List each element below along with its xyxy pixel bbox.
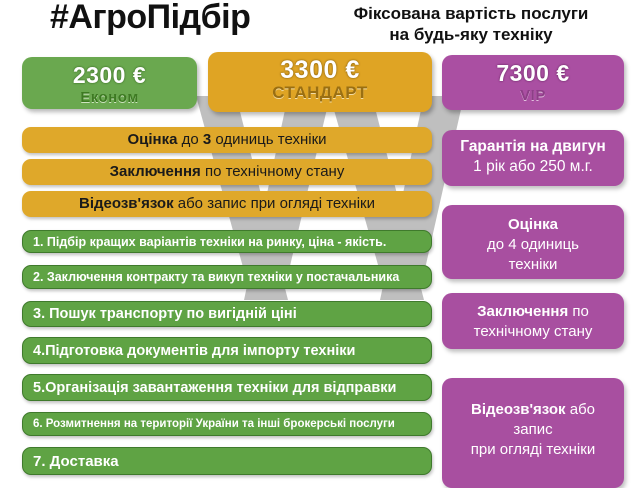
tagline: Фіксована вартість послуги на будь-яку т… xyxy=(306,3,636,45)
price-amount-econom: 2300 € xyxy=(22,63,197,88)
feature-bar-1-strong: Заключення xyxy=(110,163,201,180)
price-amount-vip: 7300 € xyxy=(442,61,624,86)
step-row: 3. Пошук транспорту по вигідній ціні xyxy=(22,301,432,327)
tagline-line-2: на будь-яку техніку xyxy=(306,24,636,45)
feature-bar-0-strong: Оцінка xyxy=(127,131,177,148)
page-header: #АгроПідбір Фіксована вартість послуги н… xyxy=(0,0,640,52)
brand-title: #АгроПідбір xyxy=(50,0,250,37)
step-row: 6. Розмитнення на території України та і… xyxy=(22,412,432,436)
feature-bar-0-strong2: 3 xyxy=(203,131,211,148)
price-card-econom[interactable]: 2300 € Економ xyxy=(22,57,197,109)
benefit-card-video-call: Відеозв'язок або запис при огляді технік… xyxy=(442,378,624,488)
benefit-3-line-3: при огляді техніки xyxy=(442,440,624,460)
price-amount-standard: 3300 € xyxy=(208,58,432,83)
feature-bar-conclusion: Заключення по технічному стану xyxy=(22,159,432,185)
price-tier-econom: Економ xyxy=(22,88,197,107)
benefit-1-line-1: Оцінка xyxy=(442,215,624,235)
step-row: 7. Доставка xyxy=(22,447,432,475)
feature-bar-1-rest: по технічному стану xyxy=(201,163,345,180)
price-card-standard[interactable]: 3300 € СТАНДАРТ xyxy=(208,52,432,112)
benefit-card-evaluation: Оцінка до 4 одиниць техніки xyxy=(442,205,624,279)
benefit-1-line-3: техніки xyxy=(442,255,624,275)
benefit-2-line-2: технічному стану xyxy=(442,322,624,342)
feature-bar-0-rest2: одиниць техніки xyxy=(211,131,326,148)
benefit-3-rest: або xyxy=(566,401,595,418)
step-row: 5.Організація завантаження техніки для в… xyxy=(22,374,432,401)
feature-bar-0-rest: до xyxy=(177,131,202,148)
step-row: 2. Заключення контракту та викуп техніки… xyxy=(22,265,432,289)
benefit-1-strong: Оцінка xyxy=(508,216,558,233)
feature-bar-video-call: Відеозв'язок або запис при огляді технік… xyxy=(22,191,432,217)
feature-bar-evaluation: Оцінка до 3 одиниць техніки xyxy=(22,127,432,153)
tagline-line-1: Фіксована вартість послуги xyxy=(306,3,636,24)
price-tier-vip: VIP xyxy=(442,86,624,105)
benefit-1-line-2: до 4 одиниць xyxy=(442,235,624,255)
benefit-0-line-2: 1 рік або 250 м.г. xyxy=(442,157,624,177)
benefit-0-line-1: Гарантія на двигун xyxy=(442,137,624,157)
step-row: 1. Підбір кращих варіантів техніки на ри… xyxy=(22,230,432,253)
benefit-0-strong: Гарантія на двигун xyxy=(460,138,606,155)
feature-bar-2-rest: або запис при огляді техніки xyxy=(174,195,375,212)
step-row: 4.Підготовка документів для імпорту техн… xyxy=(22,337,432,364)
price-card-vip[interactable]: 7300 € VIP xyxy=(442,55,624,110)
benefit-3-line-2: запис xyxy=(442,420,624,440)
benefit-2-strong: Заключення xyxy=(477,303,568,320)
benefit-2-rest: по xyxy=(568,303,589,320)
benefit-3-strong: Відеозв'язок xyxy=(471,401,566,418)
benefit-card-engine-warranty: Гарантія на двигун 1 рік або 250 м.г. xyxy=(442,130,624,186)
benefit-3-line-1: Відеозв'язок або xyxy=(442,400,624,420)
benefit-card-conclusion: Заключення по технічному стану xyxy=(442,293,624,349)
price-tier-standard: СТАНДАРТ xyxy=(208,83,432,102)
benefit-2-line-1: Заключення по xyxy=(442,302,624,322)
feature-bar-2-strong: Відеозв'язок xyxy=(79,195,174,212)
